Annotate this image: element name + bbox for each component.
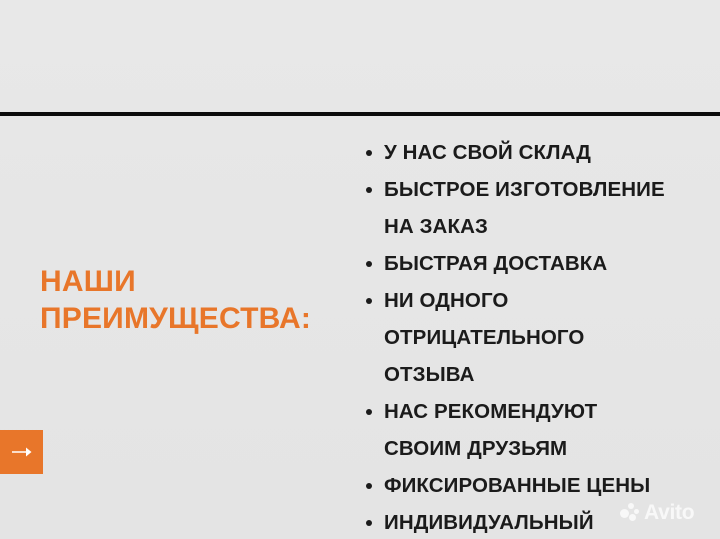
list-item: ФИКСИРОВАННЫЕ ЦЕНЫ xyxy=(362,467,710,504)
avito-wordmark: Avito xyxy=(644,502,694,523)
list-item: БЫСТРАЯ ДОСТАВКА xyxy=(362,245,710,282)
list-item: НИ ОДНОГО ОТРИЦАТЕЛЬНОГО ОТЗЫВА xyxy=(362,282,710,393)
page-title: НАШИ ПРЕИМУЩЕСТВА: xyxy=(40,263,350,337)
benefits-list: У НАС СВОЙ СКЛАД БЫСТРОЕ ИЗГОТОВЛЕНИЕ НА… xyxy=(362,134,710,539)
list-item: БЫСТРОЕ ИЗГОТОВЛЕНИЕ НА ЗАКАЗ xyxy=(362,171,710,245)
list-item: У НАС СВОЙ СКЛАД xyxy=(362,134,710,171)
next-arrow-button[interactable] xyxy=(0,430,43,474)
avito-watermark: Avito xyxy=(620,502,694,523)
promo-slide: НАШИ ПРЕИМУЩЕСТВА: У НАС СВОЙ СКЛАД БЫСТ… xyxy=(0,0,720,539)
top-divider-rule xyxy=(0,112,720,116)
avito-dots-logo-icon xyxy=(620,503,639,522)
arrow-right-icon xyxy=(11,446,33,458)
list-item: НАС РЕКОМЕНДУЮТ СВОИМ ДРУЗЬЯМ xyxy=(362,393,710,467)
